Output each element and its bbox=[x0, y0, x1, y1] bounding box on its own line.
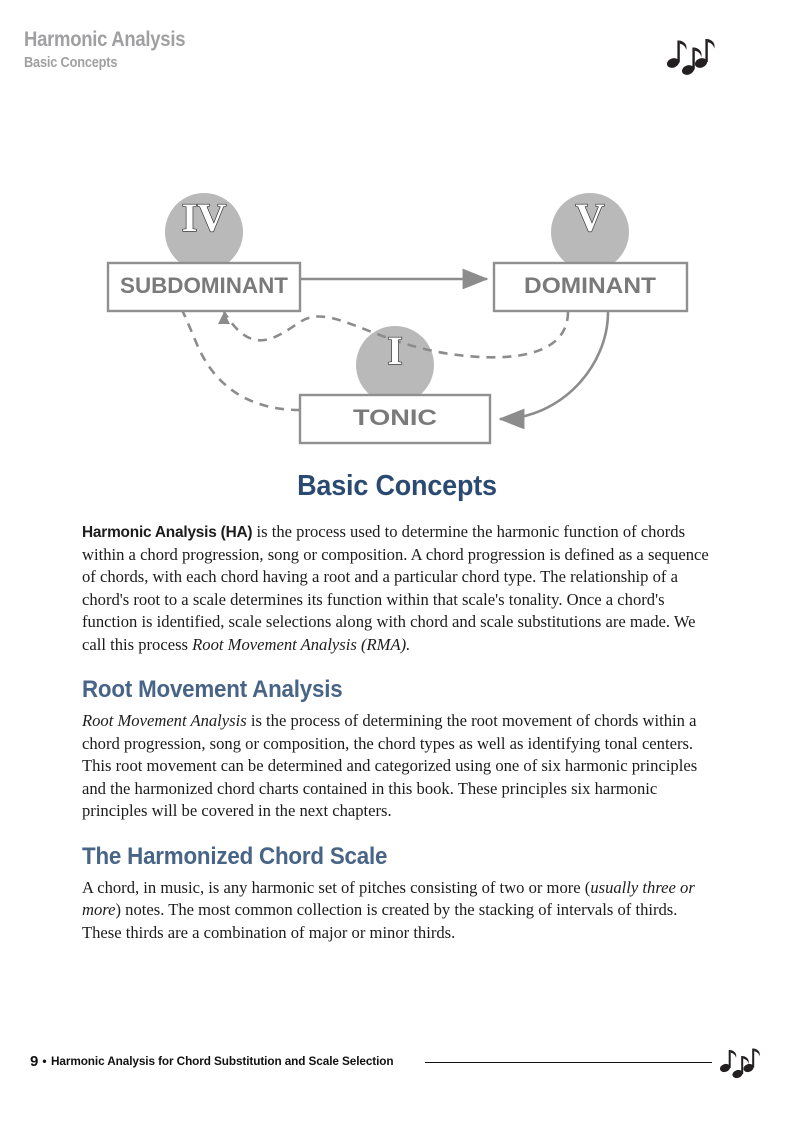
box-label-dominant: DOMINANT bbox=[524, 273, 657, 298]
running-header: Harmonic Analysis Basic Concepts bbox=[24, 28, 770, 88]
box-tonic: TONIC bbox=[300, 395, 490, 443]
header-subtitle: Basic Concepts bbox=[24, 55, 680, 71]
paragraph-intro: Harmonic Analysis (HA) is the process us… bbox=[82, 521, 712, 656]
numeral-v: V bbox=[576, 195, 605, 240]
paragraph-intro-italic: Root Movement Analysis (RMA). bbox=[192, 635, 410, 654]
paragraph-lead-bold: Harmonic Analysis (HA) bbox=[82, 524, 252, 541]
footer-rule bbox=[425, 1062, 712, 1063]
paragraph-hcs-text-2: ) notes. The most common collection is c… bbox=[82, 900, 677, 941]
paragraph-harmonized-chord-scale: A chord, in music, is any harmonic set o… bbox=[82, 877, 712, 944]
box-label-subdominant: SUBDOMINANT bbox=[120, 273, 289, 298]
article-body: Basic Concepts Harmonic Analysis (HA) is… bbox=[82, 470, 712, 944]
music-notes-icon bbox=[718, 1043, 764, 1079]
box-subdominant: SUBDOMINANT bbox=[108, 263, 300, 311]
music-notes-icon bbox=[664, 32, 720, 76]
paragraph-root-movement-analysis: Root Movement Analysis is the process of… bbox=[82, 710, 712, 822]
footer-book-title: Harmonic Analysis for Chord Substitution… bbox=[51, 1054, 393, 1068]
box-label-tonic: TONIC bbox=[353, 405, 437, 430]
harmonic-function-diagram: SUBDOMINANT DOMINANT TONIC IV V I bbox=[0, 182, 794, 462]
dashed-arrow-tonic-to-subdominant bbox=[182, 310, 300, 410]
box-dominant: DOMINANT bbox=[494, 263, 687, 311]
footer-separator: • bbox=[42, 1054, 46, 1068]
page-footer: 9 • Harmonic Analysis for Chord Substitu… bbox=[30, 1043, 764, 1083]
footer-page-number: 9 bbox=[30, 1053, 38, 1070]
numeral-iv: IV bbox=[182, 195, 227, 240]
page-title: Basic Concepts bbox=[104, 470, 690, 503]
section-heading-root-movement-analysis: Root Movement Analysis bbox=[82, 676, 668, 704]
dashed-arrowhead-a bbox=[218, 312, 230, 324]
paragraph-rma-italic-lead: Root Movement Analysis bbox=[82, 711, 247, 730]
numeral-i: I bbox=[387, 328, 403, 373]
arrow-dominant-to-tonic bbox=[500, 312, 608, 419]
header-title: Harmonic Analysis bbox=[24, 28, 680, 53]
section-heading-harmonized-chord-scale: The Harmonized Chord Scale bbox=[82, 843, 668, 871]
paragraph-hcs-text-1: A chord, in music, is any harmonic set o… bbox=[82, 878, 590, 897]
